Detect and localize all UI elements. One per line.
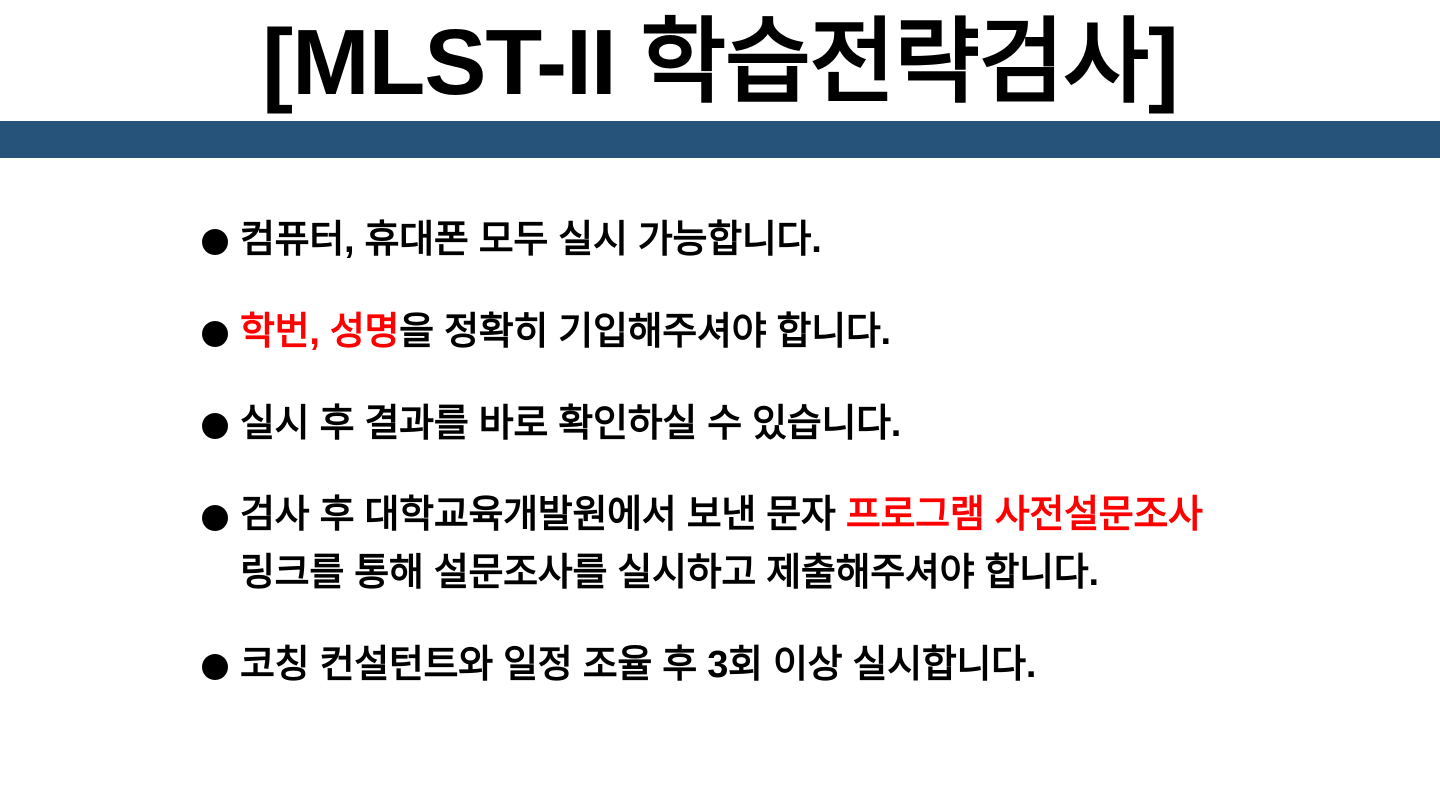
bullet-text: 실시 후 결과를 바로 확인하실 수 있습니다. bbox=[240, 396, 1426, 454]
bullet-line: 코칭 컨설턴트와 일정 조율 후 3회 이상 실시합니다. bbox=[240, 637, 1426, 695]
bullet-item: 실시 후 결과를 바로 확인하실 수 있습니다. bbox=[196, 396, 1426, 454]
highlighted-text: 프로그램 사전설문조사 bbox=[846, 494, 1203, 536]
bullet-text: 컴퓨터, 휴대폰 모두 실시 가능합니다. bbox=[240, 212, 1426, 270]
bullet-line: 컴퓨터, 휴대폰 모두 실시 가능합니다. bbox=[240, 212, 1426, 270]
bullet-list: 컴퓨터, 휴대폰 모두 실시 가능합니다.학번, 성명을 정확히 기입해주셔야 … bbox=[196, 212, 1426, 695]
highlighted-text: 학번, 성명 bbox=[240, 311, 399, 353]
slide-title: [MLST-II 학습전략검사] bbox=[0, 14, 1440, 112]
plain-text: 검사 후 대학교육개발원에서 보낸 문자 bbox=[240, 494, 846, 536]
bullet-item: 코칭 컨설턴트와 일정 조율 후 3회 이상 실시합니다. bbox=[196, 637, 1426, 695]
presentation-slide: [MLST-II 학습전략검사] 컴퓨터, 휴대폰 모두 실시 가능합니다.학번… bbox=[0, 0, 1440, 810]
bullet-point-icon bbox=[202, 321, 228, 347]
bullet-item: 학번, 성명을 정확히 기입해주셔야 합니다. bbox=[196, 304, 1426, 362]
accent-divider-bar bbox=[0, 121, 1440, 158]
bullet-point-icon bbox=[202, 654, 228, 680]
bullet-text: 학번, 성명을 정확히 기입해주셔야 합니다. bbox=[240, 304, 1426, 362]
plain-text: 링크를 통해 설문조사를 실시하고 제출해주셔야 합니다. bbox=[240, 552, 1099, 594]
bullet-line: 검사 후 대학교육개발원에서 보낸 문자 프로그램 사전설문조사 bbox=[240, 487, 1426, 545]
plain-text: 실시 후 결과를 바로 확인하실 수 있습니다. bbox=[240, 403, 901, 445]
plain-text: 을 정확히 기입해주셔야 합니다. bbox=[399, 311, 891, 353]
bullet-point-icon bbox=[202, 505, 228, 531]
bullet-text: 코칭 컨설턴트와 일정 조율 후 3회 이상 실시합니다. bbox=[240, 637, 1426, 695]
bullet-line: 링크를 통해 설문조사를 실시하고 제출해주셔야 합니다. bbox=[240, 545, 1426, 603]
bullet-text: 검사 후 대학교육개발원에서 보낸 문자 프로그램 사전설문조사링크를 통해 설… bbox=[240, 487, 1426, 603]
bullet-item: 컴퓨터, 휴대폰 모두 실시 가능합니다. bbox=[196, 212, 1426, 270]
plain-text: 코칭 컨설턴트와 일정 조율 후 3회 이상 실시합니다. bbox=[240, 644, 1036, 686]
bullet-line: 실시 후 결과를 바로 확인하실 수 있습니다. bbox=[240, 396, 1426, 454]
bullet-point-icon bbox=[202, 413, 228, 439]
bullet-item: 검사 후 대학교육개발원에서 보낸 문자 프로그램 사전설문조사링크를 통해 설… bbox=[196, 487, 1426, 603]
bullet-line: 학번, 성명을 정확히 기입해주셔야 합니다. bbox=[240, 304, 1426, 362]
bullet-point-icon bbox=[202, 229, 228, 255]
plain-text: 컴퓨터, 휴대폰 모두 실시 가능합니다. bbox=[240, 219, 821, 261]
